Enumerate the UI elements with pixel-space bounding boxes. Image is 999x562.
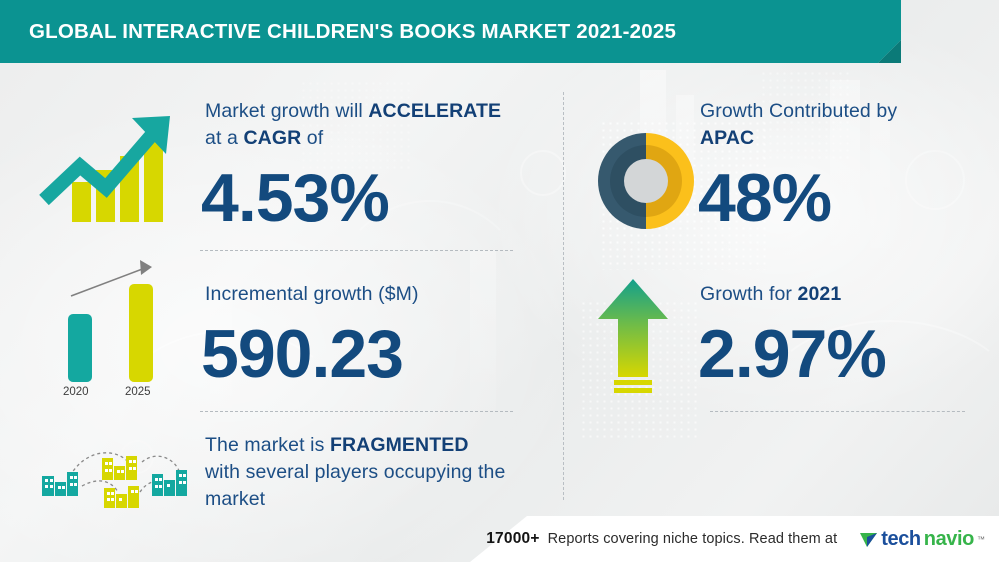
cagr-line2-suffix: of <box>301 127 323 149</box>
fragmented-market-cities-icon <box>30 440 190 512</box>
growth-arrow-bars-icon <box>36 104 186 226</box>
logo-text-navio: navio <box>924 528 974 551</box>
bar-label-2020: 2020 <box>63 386 89 398</box>
apac-label-bold: APAC <box>700 127 754 149</box>
growth-2021-label-plain: Growth for <box>700 283 798 305</box>
incremental-growth-value: 590.23 <box>201 320 403 388</box>
footer-tagline: Reports covering niche topics. Read them… <box>548 531 838 547</box>
fragmentation-statement: The market is FRAGMENTED with several pl… <box>205 432 540 513</box>
cagr-line1-plain: Market growth will <box>205 100 368 122</box>
column-divider <box>563 92 564 500</box>
apac-value: 48% <box>698 164 831 232</box>
report-count: 17000+ <box>486 530 539 548</box>
cagr-statement: Market growth will ACCELERATE at a CAGR … <box>205 98 535 152</box>
cagr-value: 4.53% <box>201 164 389 232</box>
growth-2021-label-bold: 2021 <box>798 283 842 305</box>
fragmentation-line3: market <box>205 488 265 510</box>
logo-trademark: ™ <box>977 535 985 544</box>
growth-2021-value: 2.97% <box>698 320 886 388</box>
fragmentation-line1-plain: The market is <box>205 434 330 456</box>
left-divider-1 <box>200 250 513 251</box>
left-divider-2 <box>200 411 513 412</box>
infographic-canvas: GLOBAL INTERACTIVE CHILDREN'S BOOKS MARK… <box>0 0 999 562</box>
logo-text-tech: tech <box>881 528 921 551</box>
apac-label-plain: Growth Contributed by <box>700 100 897 122</box>
apac-statement: Growth Contributed by APAC <box>700 98 970 152</box>
fragmentation-line1-bold: FRAGMENTED <box>330 434 469 456</box>
cagr-line2-bold: CAGR <box>243 127 301 149</box>
footer-content: 17000+ Reports covering niche topics. Re… <box>0 516 999 562</box>
two-bar-comparison-icon <box>44 256 184 386</box>
incremental-growth-label: Incremental growth ($M) <box>205 281 419 308</box>
bar-label-2025: 2025 <box>125 386 151 398</box>
up-arrow-gradient-icon <box>596 277 670 399</box>
technavio-logo[interactable]: technavio™ <box>859 528 985 551</box>
technavio-triangle-icon <box>859 530 878 549</box>
growth-2021-statement: Growth for 2021 <box>700 281 841 308</box>
fragmentation-line2: with several players occupying the <box>205 461 505 483</box>
donut-chart-icon <box>596 131 696 231</box>
cagr-line2-prefix: at a <box>205 127 243 149</box>
right-divider-1 <box>710 411 965 412</box>
cagr-line1-bold: ACCELERATE <box>368 100 501 122</box>
header-banner: GLOBAL INTERACTIVE CHILDREN'S BOOKS MARK… <box>0 0 901 63</box>
page-title: GLOBAL INTERACTIVE CHILDREN'S BOOKS MARK… <box>0 20 676 44</box>
